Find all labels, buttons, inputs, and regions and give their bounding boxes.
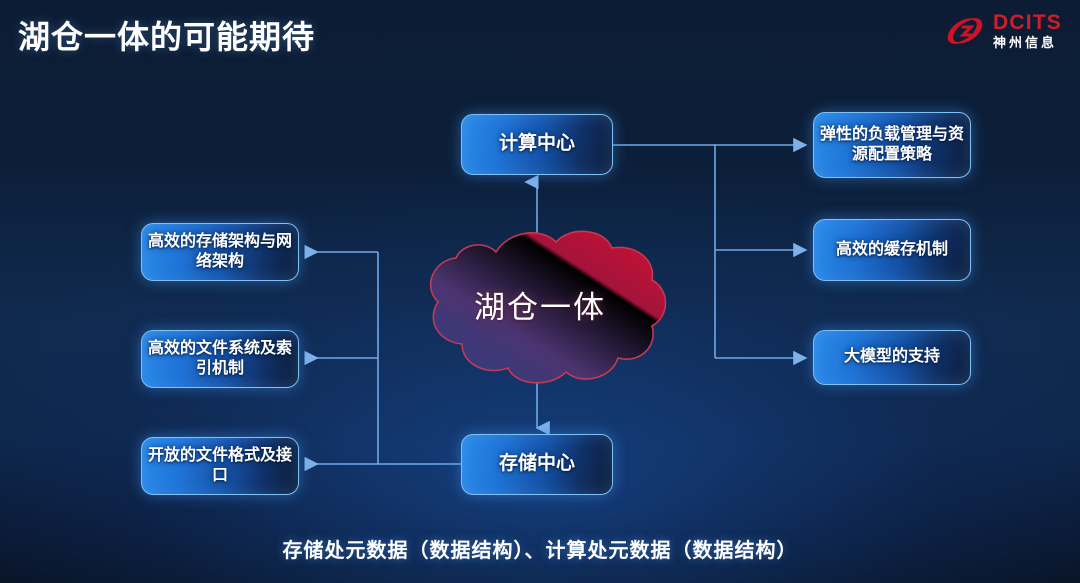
node-label: 高效的缓存机制 (836, 240, 948, 260)
node-compute-center[interactable]: 计算中心 (461, 114, 613, 175)
node-label: 存储中心 (499, 452, 575, 476)
node-label: 计算中心 (499, 132, 575, 156)
node-open-file-format[interactable]: 开放的文件格式及接口 (141, 437, 299, 495)
node-label: 大模型的支持 (844, 347, 940, 367)
node-label: 弹性的负载管理与资源配置策略 (814, 125, 970, 166)
node-storage-center[interactable]: 存储中心 (461, 434, 613, 495)
node-elastic-workload[interactable]: 弹性的负载管理与资源配置策略 (813, 112, 971, 178)
node-cache-mechanism[interactable]: 高效的缓存机制 (813, 219, 971, 281)
center-cloud: 湖仓一体 (404, 218, 676, 390)
node-storage-architecture[interactable]: 高效的存储架构与网络架构 (141, 223, 299, 281)
footer-caption: 存储处元数据（数据结构）、计算处元数据（数据结构） (0, 534, 1080, 563)
node-file-system-index[interactable]: 高效的文件系统及索引机制 (141, 330, 299, 388)
node-label: 高效的存储架构与网络架构 (142, 232, 298, 273)
node-label: 开放的文件格式及接口 (142, 446, 298, 487)
slide-canvas: 湖仓一体的可能期待 DCITS 神州信息 (0, 0, 1080, 583)
node-label: 高效的文件系统及索引机制 (142, 339, 298, 380)
node-large-model-support[interactable]: 大模型的支持 (813, 330, 971, 385)
